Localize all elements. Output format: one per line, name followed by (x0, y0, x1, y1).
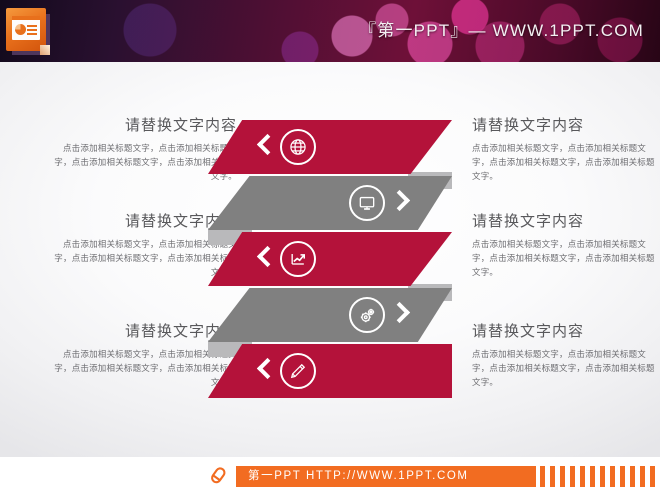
band-5-icon-group (258, 344, 316, 398)
monitor-icon (349, 185, 385, 221)
pencil-icon (280, 353, 316, 389)
chevron-left-icon (258, 246, 273, 272)
gears-icon (349, 297, 385, 333)
header-banner: 『第一PPT』— WWW.1PPT.COM (0, 0, 660, 62)
band-5[interactable] (208, 344, 452, 398)
slide-canvas: 请替换文字内容 点击添加相关标题文字，点击添加相关标题文字，点击添加相关标题文字… (0, 62, 660, 457)
footer-bar: 第一PPT HTTP://WWW.1PPT.COM (0, 457, 660, 495)
band-4-icon-group (349, 288, 407, 342)
band-3[interactable] (208, 232, 452, 286)
chevron-right-icon (392, 302, 407, 328)
powerpoint-logo-icon (6, 8, 50, 55)
header-title: 『第一PPT』— WWW.1PPT.COM (359, 16, 644, 41)
band-2-icon-group (349, 176, 407, 230)
band-2-arrow-shape (208, 176, 452, 230)
band-1-arrow-shape (208, 120, 452, 174)
band-3-icon-group (258, 232, 316, 286)
footer-stripes (540, 466, 660, 487)
chevron-left-icon (258, 134, 273, 160)
chart-up-icon (280, 241, 316, 277)
chevron-left-icon (258, 358, 273, 384)
band-5-arrow-shape (208, 344, 452, 398)
band-4[interactable] (208, 288, 452, 342)
footer-text: 第一PPT HTTP://WWW.1PPT.COM (236, 466, 536, 487)
globe-icon (280, 129, 316, 165)
chevron-right-icon (392, 190, 407, 216)
band-3-arrow-shape (208, 232, 452, 286)
band-4-arrow-shape (208, 288, 452, 342)
band-1-icon-group (258, 120, 316, 174)
slide: 『第一PPT』— WWW.1PPT.COM 请替换文字内容 点击添加相关标题文字… (0, 0, 660, 495)
pencil-icon (202, 465, 230, 491)
band-2[interactable] (208, 176, 452, 230)
band-1[interactable] (208, 120, 452, 174)
zigzag-diagram (0, 62, 660, 457)
